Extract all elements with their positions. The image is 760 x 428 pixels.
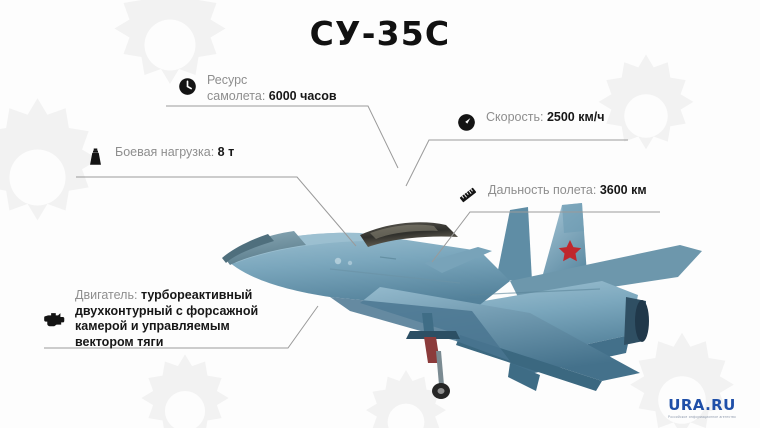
site-logo[interactable]: URA.RU Российское информационное агентст… bbox=[660, 396, 744, 419]
resource-line1: Ресурс bbox=[207, 73, 247, 87]
engine-value-line4: вектором тяги bbox=[75, 335, 163, 349]
callout-speed[interactable]: Скорость: 2500 км/ч bbox=[455, 110, 604, 134]
ruler-icon bbox=[457, 183, 479, 207]
payload-value: 8 т bbox=[218, 145, 235, 159]
callout-combat-payload[interactable]: Боевая нагрузка: 8 т bbox=[84, 145, 234, 169]
weight-icon bbox=[84, 145, 106, 169]
infographic-canvas: СУ-35С bbox=[0, 0, 760, 428]
payload-label: Боевая нагрузка: bbox=[115, 145, 218, 159]
callout-flight-range[interactable]: Дальность полета: 3600 км bbox=[457, 183, 647, 207]
resource-value: 6000 часов bbox=[269, 89, 337, 103]
speedometer-icon bbox=[455, 110, 477, 134]
connector-speed bbox=[406, 140, 628, 186]
logo-wordmark: URA.RU bbox=[660, 396, 744, 414]
engine-value-line2: двухконтурный с форсажной bbox=[75, 304, 258, 318]
engine-value-line3: камерой и управляемым bbox=[75, 319, 230, 333]
aircraft-illustration bbox=[210, 185, 710, 420]
callout-text-payload: Боевая нагрузка: 8 т bbox=[115, 145, 234, 161]
callout-text-range: Дальность полета: 3600 км bbox=[488, 183, 647, 199]
range-label: Дальность полета: bbox=[488, 183, 600, 197]
callout-engine[interactable]: Двигатель: турбореактивный двухконтурный… bbox=[44, 288, 274, 350]
callout-text-speed: Скорость: 2500 км/ч bbox=[486, 110, 604, 126]
engine-value-line1: турбореактивный bbox=[141, 288, 252, 302]
callout-text-engine: Двигатель: турбореактивный двухконтурный… bbox=[75, 288, 258, 350]
speed-value: 2500 км/ч bbox=[547, 110, 605, 124]
speed-label: Скорость: bbox=[486, 110, 547, 124]
page-title: СУ-35С bbox=[0, 14, 760, 53]
gear-decoration bbox=[0, 95, 120, 260]
callout-text-resource: Ресурс самолета: 6000 часов bbox=[207, 73, 337, 104]
engine-label: Двигатель: bbox=[75, 288, 141, 302]
callout-aircraft-resource[interactable]: Ресурс самолета: 6000 часов bbox=[176, 73, 337, 104]
logo-tagline: Российское информационное агентство bbox=[660, 415, 744, 419]
range-value: 3600 км bbox=[600, 183, 647, 197]
resource-label: самолета: bbox=[207, 89, 269, 103]
clock-icon bbox=[176, 74, 198, 98]
engine-icon bbox=[44, 306, 66, 330]
